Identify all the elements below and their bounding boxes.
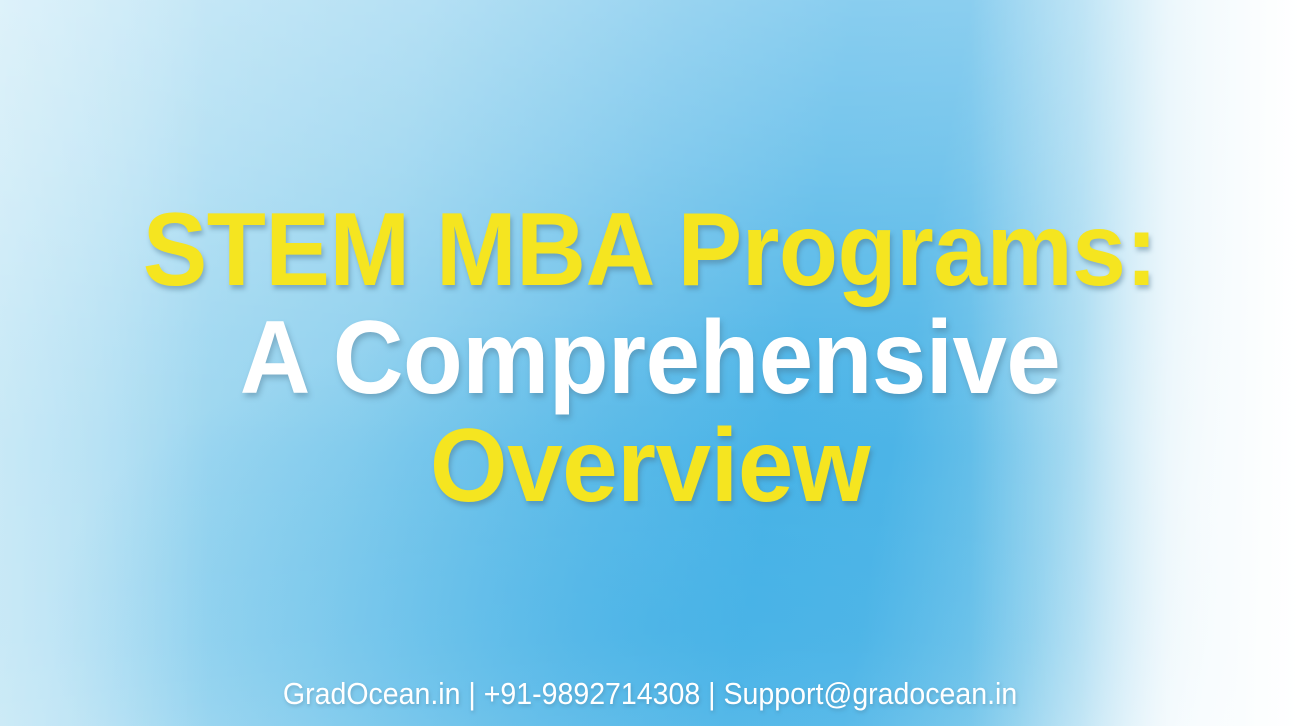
headline-line-2: A Comprehensive [39, 304, 1261, 412]
headline-block: STEM MBA Programs: A Comprehensive Overv… [0, 196, 1300, 520]
title-slide: STEM MBA Programs: A Comprehensive Overv… [0, 0, 1300, 726]
footer-contact-bar: GradOcean.in | +91-9892714308 | Support@… [0, 676, 1300, 712]
headline-line-1: STEM MBA Programs: [46, 196, 1255, 304]
headline-line-3: Overview [26, 412, 1274, 520]
footer-contact-text: GradOcean.in | +91-9892714308 | Support@… [283, 676, 1017, 712]
